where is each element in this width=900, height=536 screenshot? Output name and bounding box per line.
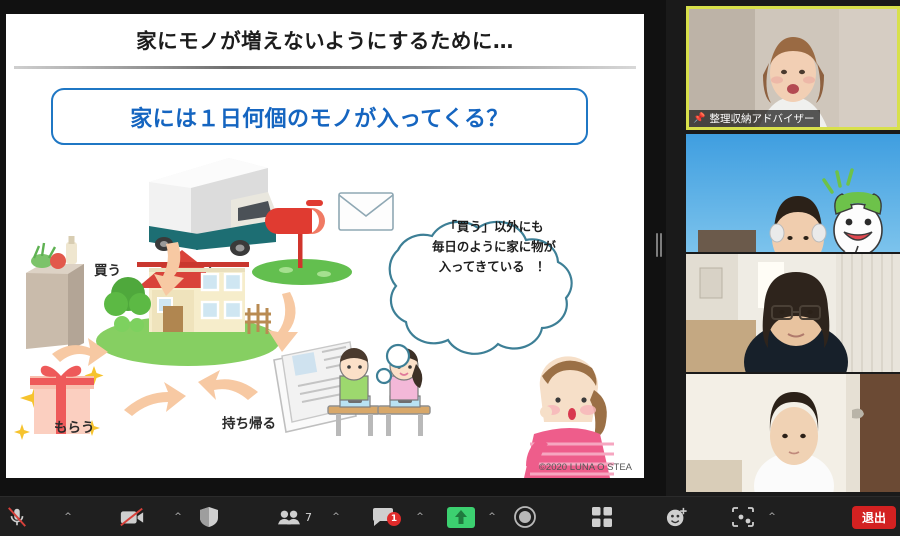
record-icon [514,506,536,528]
grocery-bag-icon [26,236,84,351]
breakout-rooms-button[interactable] [585,497,619,536]
record-button[interactable] [508,497,542,536]
video-tile-strip: 📌 整理収納アドバイザー [686,0,900,496]
shared-screen-stage[interactable]: 家にモノが増えないようにするために… 家には１日何個のモノが入ってくる？ [0,0,666,496]
mic-button[interactable] [0,497,38,536]
reactions-icon [666,506,688,528]
caption-receive-text: もらう [54,420,95,436]
participants-button[interactable]: 7 [272,497,318,536]
shield-icon [199,506,219,528]
panel-resize-handle[interactable] [655,232,663,258]
video-tile-0-name: 整理収納アドバイザー [709,111,814,126]
students-at-desks-icon [328,348,430,436]
microphone-muted-icon [6,506,28,528]
video-options-caret[interactable]: ^ [168,497,188,536]
participants-caret[interactable]: ^ [326,497,346,536]
presentation-slide: 家にモノが増えないようにするために… 家には１日何個のモノが入ってくる？ [6,14,644,478]
slide-question-box: 家には１日何個のモノが入ってくる？ [51,88,588,145]
reactions-button[interactable] [660,497,694,536]
mic-options-caret[interactable]: ^ [58,497,78,536]
video-tile-0[interactable]: 📌 整理収納アドバイザー [686,6,900,130]
share-caret[interactable]: ^ [482,497,502,536]
video-tile-1[interactable] [686,134,900,252]
video-button[interactable] [110,497,154,536]
pin-icon: 📌 [693,114,705,124]
leave-meeting-button[interactable]: 退出 [852,506,896,529]
slide-copyright: ©2020 LUNA O STEA [539,462,632,473]
share-screen-icon [454,509,468,525]
video-tile-3[interactable] [686,374,900,492]
thinking-girl-icon [524,356,614,478]
thought-bubble-text: 「買う」以外にも 毎日のように家に物が 入ってきている ！ [378,217,610,277]
participants-icon [278,509,300,525]
chevron-up-icon: ^ [174,512,182,522]
breakout-rooms-icon [592,507,612,527]
house-icon [96,250,280,366]
chevron-up-icon: ^ [768,512,776,522]
video-tile-2[interactable] [686,254,900,372]
video-feed-1 [686,134,900,252]
chat-unread-badge: 1 [387,512,401,526]
chevron-up-icon: ^ [64,512,72,522]
video-muted-icon [119,506,145,528]
chat-button[interactable]: 1 [366,497,400,536]
chevron-up-icon: ^ [488,512,496,522]
video-feed-3 [686,374,900,492]
chevron-up-icon: ^ [416,512,424,522]
more-caret[interactable]: ^ [762,497,782,536]
meeting-toolbar: ^ ^ 7 ^ [0,496,900,536]
video-feed-2 [686,254,900,372]
delivery-truck-icon [149,158,276,256]
slide-question-text: 家には１日何個のモノが入ってくる？ [130,101,509,133]
participants-count: 7 [305,511,312,524]
caption-bring-home-text: 持ち帰る [222,415,276,432]
more-options-button[interactable] [726,497,760,536]
share-screen-button[interactable] [443,497,479,536]
caption-buy-text: 買う [94,263,121,279]
slide-illustration: 買う [6,138,644,478]
more-options-icon [732,507,754,527]
security-button[interactable] [192,497,226,536]
title-divider [14,66,636,69]
zoom-meeting-window: 家にモノが増えないようにするために… 家には１日何個のモノが入ってくる？ [0,0,900,536]
slide-title: 家にモノが増えないようにするために… [6,14,644,64]
chevron-up-icon: ^ [332,512,340,522]
video-tile-0-namebar: 📌 整理収納アドバイザー [689,110,820,127]
chat-caret[interactable]: ^ [410,497,430,536]
